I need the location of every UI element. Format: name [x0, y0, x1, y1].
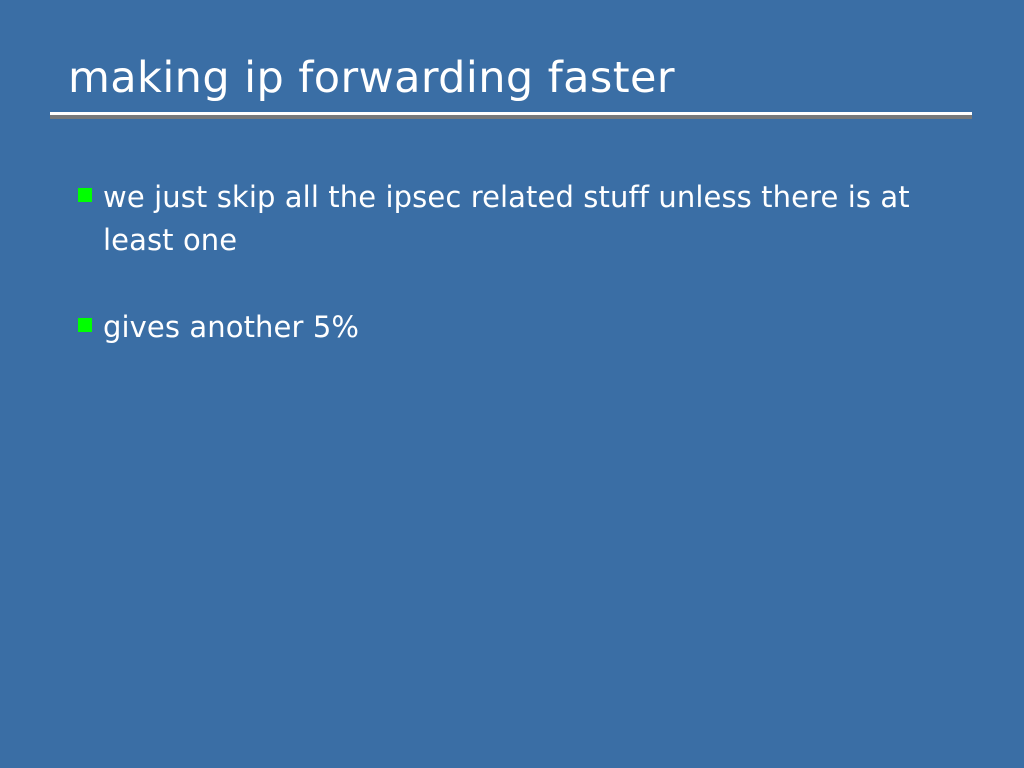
divider-shadow-line — [50, 115, 972, 119]
green-square-bullet-icon — [78, 318, 92, 332]
list-item-label: gives another 5% — [103, 306, 948, 349]
list-item: we just skip all the ipsec related stuff… — [78, 176, 948, 262]
title-block: making ip forwarding faster — [50, 52, 974, 104]
title-divider — [50, 112, 972, 119]
presentation-slide: making ip forwarding faster we just skip… — [0, 0, 1024, 768]
green-square-bullet-icon — [78, 188, 92, 202]
list-item-label: we just skip all the ipsec related stuff… — [103, 176, 913, 262]
bullet-list: we just skip all the ipsec related stuff… — [78, 176, 948, 349]
list-item: gives another 5% — [78, 306, 948, 349]
page-title: making ip forwarding faster — [50, 52, 974, 104]
